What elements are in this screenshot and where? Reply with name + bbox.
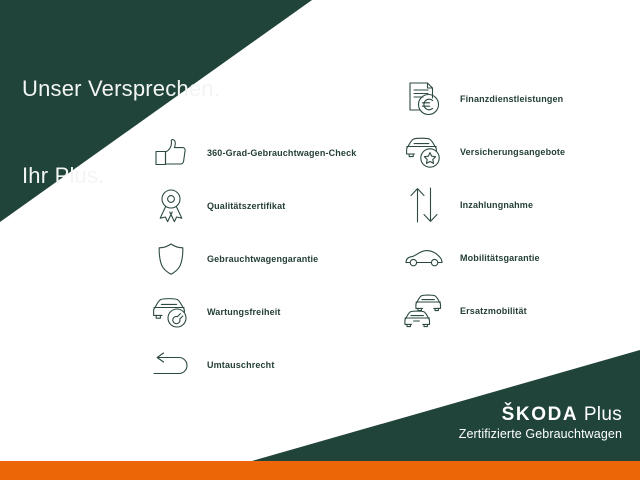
feature-label: Wartungsfreiheit [207, 307, 281, 317]
logo-product: Plus [578, 404, 622, 425]
orange-footer-bar [0, 461, 640, 480]
car-side-icon [398, 235, 450, 281]
thumbs-up-icon [145, 130, 197, 176]
feature-item-wartungsfreiheit: Wartungsfreiheit [145, 285, 356, 338]
logo-tagline: Zertifizierte Gebrauchtwagen [459, 426, 622, 443]
document-euro-icon [398, 76, 450, 122]
skoda-plus-logo: ŠKODA Plus Zertifizierte Gebrauchtwagen [459, 404, 622, 443]
feature-item-ersatzmobilitaet: Ersatzmobilität [398, 284, 565, 337]
feature-label: Finanzdienstleistungen [460, 94, 563, 104]
feature-item-finanzdienstleistungen: Finanzdienstleistungen [398, 72, 565, 125]
two-cars-icon [398, 288, 450, 334]
up-down-arrows-icon [398, 182, 450, 228]
feature-label: Umtauschrecht [207, 360, 274, 370]
headline-line-1: Unser Versprechen. [22, 74, 220, 103]
feature-label: Mobilitätsgarantie [460, 253, 540, 263]
car-star-icon [398, 129, 450, 175]
feature-item-360-check: 360-Grad-Gebrauchtwagen-Check [145, 126, 356, 179]
promo-banner: Unser Versprechen. Ihr Plus. 360-Grad-Ge… [0, 0, 640, 480]
feature-list-left: 360-Grad-Gebrauchtwagen-Check Qualitätsz… [145, 126, 356, 391]
feature-label: Gebrauchtwagengarantie [207, 254, 318, 264]
award-rosette-icon [145, 183, 197, 229]
feature-list-right: Finanzdienstleistungen Versicherungsange… [398, 72, 565, 337]
feature-item-inzahlungnahme: Inzahlungnahme [398, 178, 565, 231]
logo-brand: ŠKODA [502, 404, 579, 425]
feature-label: Inzahlungnahme [460, 200, 533, 210]
feature-label: Qualitätszertifikat [207, 201, 285, 211]
feature-label: 360-Grad-Gebrauchtwagen-Check [207, 148, 356, 158]
feature-item-umtauschrecht: Umtauschrecht [145, 338, 356, 391]
feature-item-qualitaetszertifikat: Qualitätszertifikat [145, 179, 356, 232]
feature-item-versicherungsangebote: Versicherungsangebote [398, 125, 565, 178]
car-wrench-icon [145, 289, 197, 335]
return-arrow-icon [145, 342, 197, 388]
feature-item-mobilitaetsgarantie: Mobilitätsgarantie [398, 231, 565, 284]
shield-icon [145, 236, 197, 282]
feature-item-gebrauchtwagengarantie: Gebrauchtwagengarantie [145, 232, 356, 285]
feature-label: Versicherungsangebote [460, 147, 565, 157]
feature-label: Ersatzmobilität [460, 306, 527, 316]
logo-wordmark: ŠKODA Plus [459, 404, 622, 425]
